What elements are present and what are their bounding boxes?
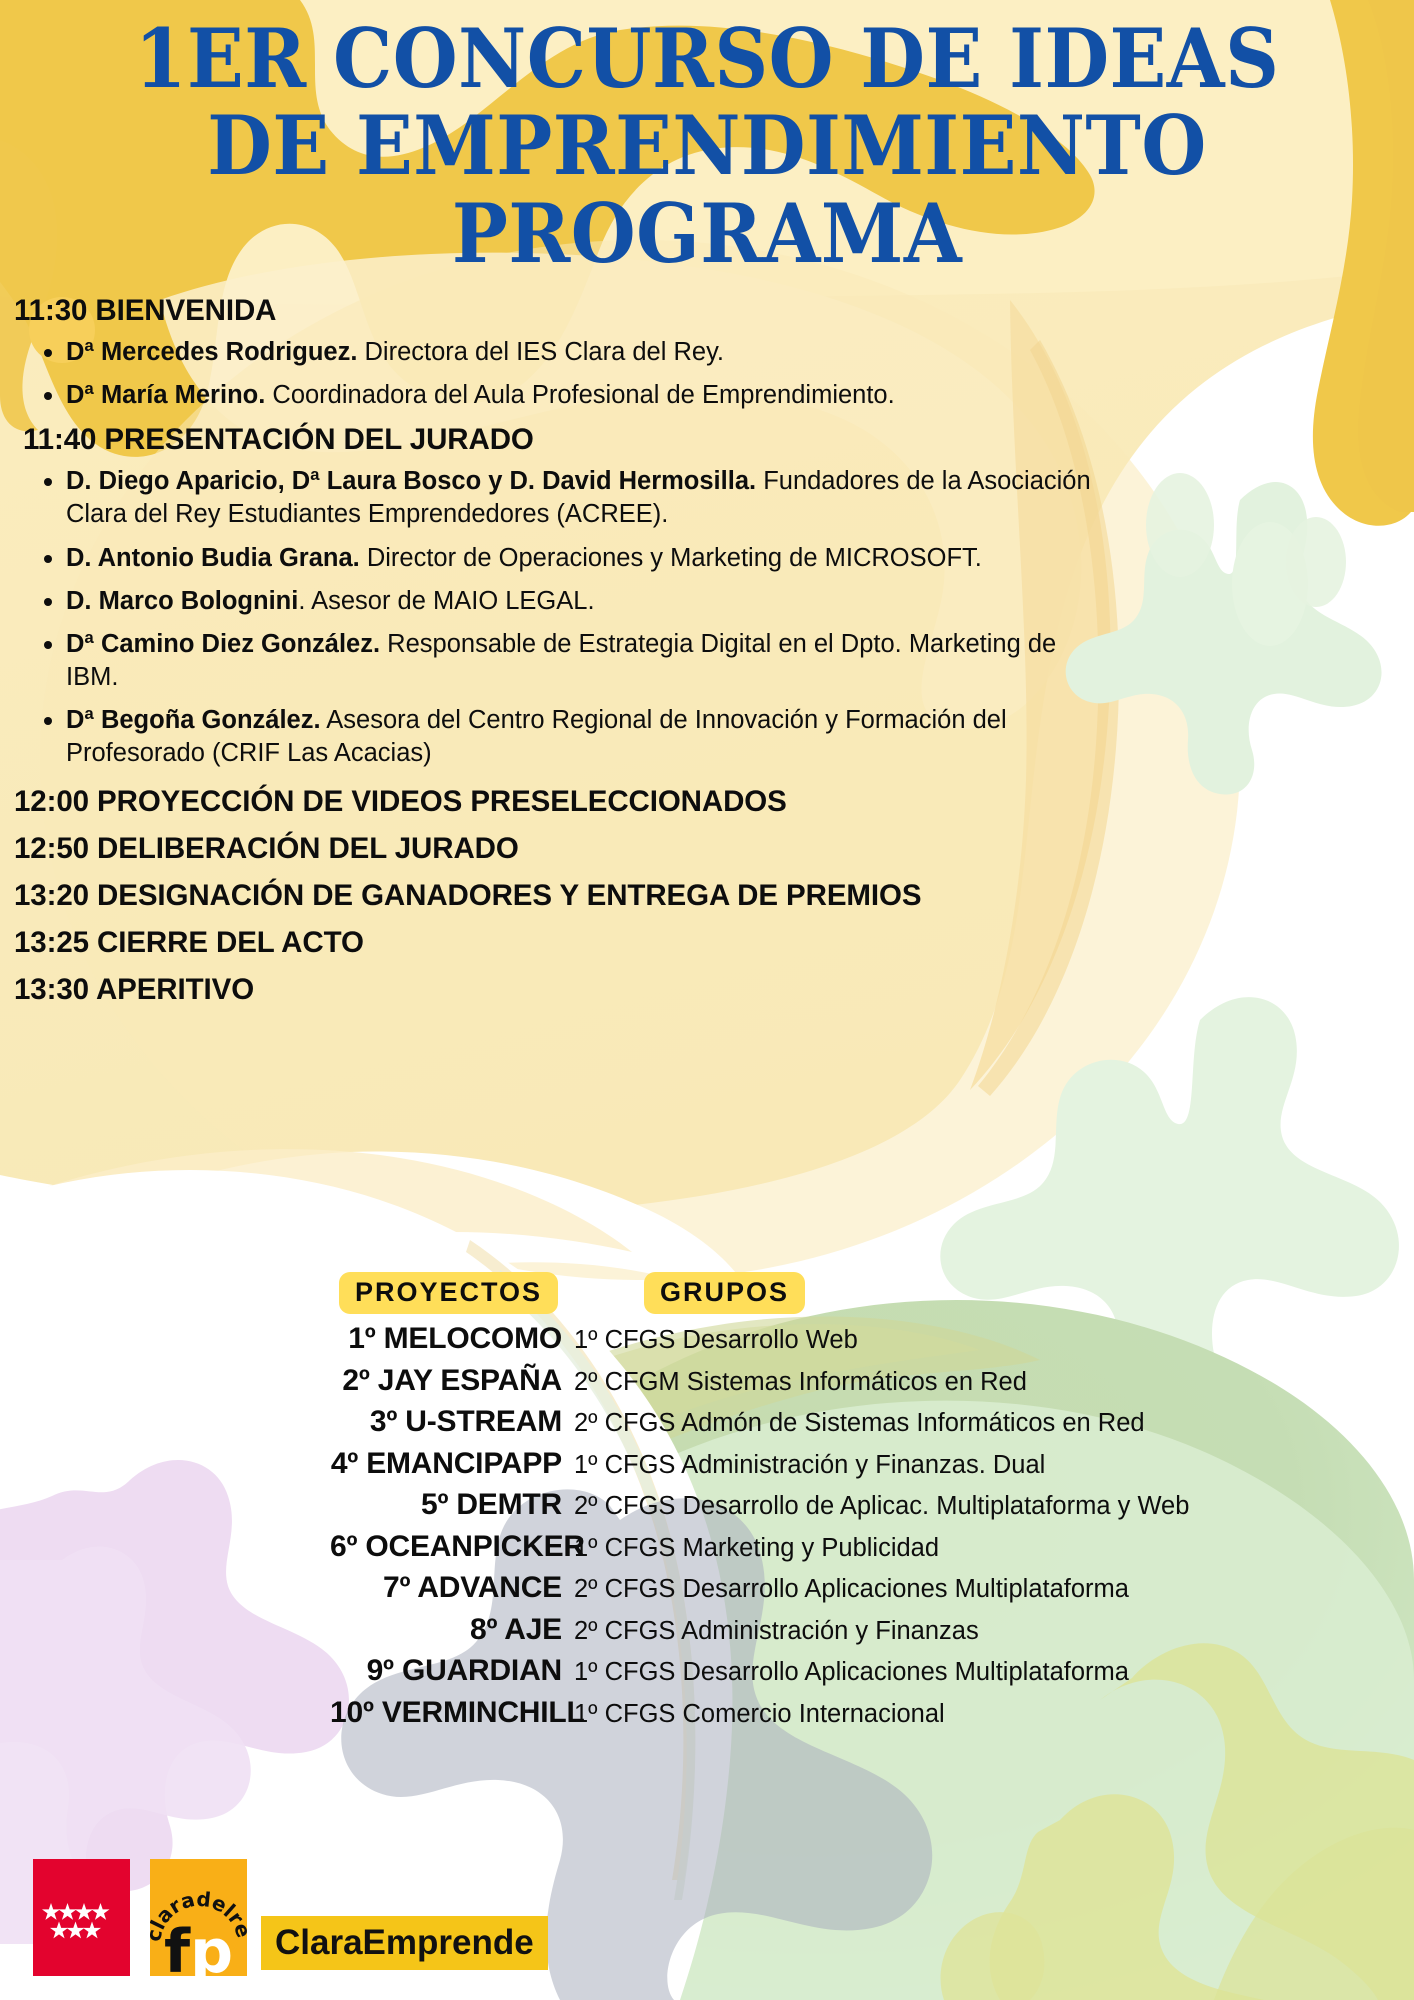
- list-item: D. Marco Bolognini. Asesor de MAIO LEGAL…: [14, 585, 1094, 618]
- table-row: 2º JAY ESPAÑA 2º CFGM Sistemas Informáti…: [330, 1364, 1414, 1398]
- group-name: 1º CFGS Desarrollo Web: [574, 1326, 858, 1355]
- poster-title: 1ER CONCURSO DE IDEAS DE EMPRENDIMIENTO …: [0, 20, 1414, 274]
- list-item: Dª María Merino. Coordinadora del Aula P…: [14, 379, 1094, 412]
- table-row: 4º EMANCIPAPP 1º CFGS Administración y F…: [330, 1447, 1414, 1481]
- table-row: 3º U-STREAM 2º CFGS Admón de Sistemas In…: [330, 1405, 1414, 1439]
- group-name: 1º CFGS Marketing y Publicidad: [574, 1534, 939, 1563]
- speaker-name: Dª Camino Diez González.: [66, 630, 380, 658]
- group-name: 2º CFGS Desarrollo Aplicaciones Multipla…: [574, 1575, 1129, 1604]
- title-line-2: DE EMPRENDIMIENTO: [57, 107, 1358, 186]
- project-name: 4º EMANCIPAPP: [330, 1447, 562, 1481]
- program-section: 11:30 BIENVENIDA Dª Mercedes Rodriguez. …: [14, 293, 1094, 1019]
- schedule-item: 13:30 APERITIVO: [14, 972, 1094, 1008]
- footer-logos: claradelrey fp ClaraEmprende: [33, 1859, 548, 1976]
- list-item: Dª Mercedes Rodriguez. Directora del IES…: [14, 336, 1094, 369]
- speaker-name: Dª María Merino.: [66, 381, 265, 409]
- group-name: 2º CFGS Desarrollo de Aplicac. Multiplat…: [574, 1492, 1189, 1521]
- speaker-name: D. Antonio Budia Grana.: [66, 544, 360, 572]
- project-name: 5º DEMTR: [330, 1488, 562, 1522]
- speaker-role: Directora del IES Clara del Rey.: [365, 338, 725, 366]
- table-row: 8º AJE 2º CFGS Administración y Finanzas: [330, 1613, 1414, 1647]
- schedule-times: 12:00 PROYECCIÓN DE VIDEOS PRESELECCIONA…: [14, 784, 1094, 1008]
- table-row: 9º GUARDIAN 1º CFGS Desarrollo Aplicacio…: [330, 1654, 1414, 1688]
- bienvenida-list: Dª Mercedes Rodriguez. Directora del IES…: [14, 336, 1094, 412]
- clara-del-rey-fp-logo: claradelrey fp: [150, 1859, 247, 1976]
- list-item: Dª Camino Diez González. Responsable de …: [14, 628, 1094, 694]
- fp-p-letter: p: [190, 1917, 233, 1976]
- seven-stars-icon: [33, 1859, 130, 1976]
- schedule-item: 13:25 CIERRE DEL ACTO: [14, 925, 1094, 961]
- schedule-item: 13:20 DESIGNACIÓN DE GANADORES Y ENTREGA…: [14, 878, 1094, 914]
- project-name: 1º MELOCOMO: [330, 1322, 562, 1356]
- fp-wordmark: fp: [164, 1922, 233, 1976]
- group-name: 1º CFGS Comercio Internacional: [574, 1700, 945, 1729]
- table-header-row: PROYECTOS GRUPOS: [330, 1272, 1414, 1322]
- projects-table: PROYECTOS GRUPOS 1º MELOCOMO 1º CFGS Des…: [330, 1272, 1414, 1737]
- column-header-grupos: GRUPOS: [644, 1272, 805, 1314]
- column-header-proyectos: PROYECTOS: [339, 1272, 558, 1314]
- project-name: 6º OCEANPICKER: [330, 1530, 562, 1564]
- project-name: 8º AJE: [330, 1613, 562, 1647]
- table-row: 1º MELOCOMO 1º CFGS Desarrollo Web: [330, 1322, 1414, 1356]
- list-item: Dª Begoña González. Asesora del Centro R…: [14, 704, 1094, 770]
- jurado-list: D. Diego Aparicio, Dª Laura Bosco y D. D…: [14, 465, 1094, 770]
- title-line-3: PROGRAMA: [57, 195, 1358, 274]
- project-name: 3º U-STREAM: [330, 1405, 562, 1439]
- group-name: 1º CFGS Desarrollo Aplicaciones Multipla…: [574, 1658, 1129, 1687]
- speaker-role: . Asesor de MAIO LEGAL.: [298, 587, 594, 615]
- speaker-name: D. Marco Bolognini: [66, 587, 298, 615]
- program-heading-bienvenida: 11:30 BIENVENIDA: [14, 293, 1094, 329]
- speaker-name: Dª Mercedes Rodriguez.: [66, 338, 357, 366]
- title-line-1: 1ER CONCURSO DE IDEAS: [57, 20, 1358, 99]
- table-row: 6º OCEANPICKER 1º CFGS Marketing y Publi…: [330, 1530, 1414, 1564]
- table-row: 5º DEMTR 2º CFGS Desarrollo de Aplicac. …: [330, 1488, 1414, 1522]
- speaker-role: Director de Operaciones y Marketing de M…: [367, 544, 982, 572]
- comunidad-de-madrid-logo: [33, 1859, 130, 1976]
- group-name: 2º CFGS Admón de Sistemas Informáticos e…: [574, 1409, 1145, 1438]
- table-row: 7º ADVANCE 2º CFGS Desarrollo Aplicacion…: [330, 1571, 1414, 1605]
- speaker-name: D. Diego Aparicio, Dª Laura Bosco y D. D…: [66, 467, 756, 495]
- schedule-item: 12:50 DELIBERACIÓN DEL JURADO: [14, 831, 1094, 867]
- claraemprende-badge: ClaraEmprende: [261, 1916, 548, 1970]
- group-name: 1º CFGS Administración y Finanzas. Dual: [574, 1451, 1045, 1480]
- project-name: 10º VERMINCHILL: [330, 1696, 562, 1730]
- project-name: 9º GUARDIAN: [330, 1654, 562, 1688]
- group-name: 2º CFGM Sistemas Informáticos en Red: [574, 1368, 1027, 1397]
- project-name: 7º ADVANCE: [330, 1571, 562, 1605]
- program-heading-jurado: 11:40 PRESENTACIÓN DEL JURADO: [14, 422, 1094, 458]
- list-item: D. Antonio Budia Grana. Director de Oper…: [14, 542, 1094, 575]
- table-row: 10º VERMINCHILL 1º CFGS Comercio Interna…: [330, 1696, 1414, 1730]
- group-name: 2º CFGS Administración y Finanzas: [574, 1617, 979, 1646]
- project-name: 2º JAY ESPAÑA: [330, 1364, 562, 1398]
- speaker-role: Coordinadora del Aula Profesional de Emp…: [272, 381, 894, 409]
- list-item: D. Diego Aparicio, Dª Laura Bosco y D. D…: [14, 465, 1094, 531]
- speaker-name: Dª Begoña González.: [66, 706, 321, 734]
- poster: 1ER CONCURSO DE IDEAS DE EMPRENDIMIENTO …: [0, 0, 1414, 2000]
- schedule-item: 12:00 PROYECCIÓN DE VIDEOS PRESELECCIONA…: [14, 784, 1094, 820]
